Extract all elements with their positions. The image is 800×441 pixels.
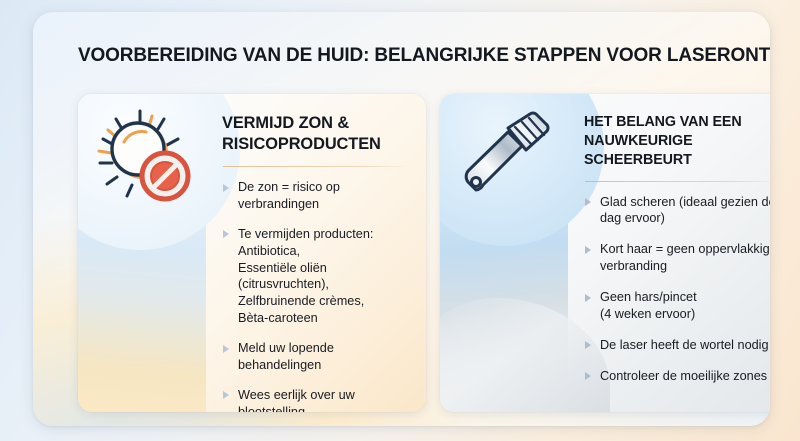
- list-item: Controleer de moeilijke zones: [584, 368, 770, 385]
- list-item: Te vermijden producten: Antibiotica, Ess…: [222, 226, 412, 327]
- icon-pane-left: [78, 94, 206, 412]
- list-item: Meld uw lopende behandelingen: [222, 340, 412, 374]
- sun-no-entry-icon: [94, 106, 194, 206]
- card-careful-shave: HET BELANG VAN EEN NAUWKEURIGE SCHEERBEU…: [440, 94, 770, 412]
- list-item: Wees eerlijk over uw blootstelling: [222, 387, 412, 412]
- card-avoid-sun: VERMIJD ZON & RISICOPRODUCTEN De zon = r…: [78, 94, 426, 412]
- content-panel: VOORBEREIDING VAN DE HUID: BELANGRIJKE S…: [33, 12, 770, 426]
- card-body-careful-shave: HET BELANG VAN EEN NAUWKEURIGE SCHEERBEU…: [568, 94, 770, 412]
- card-heading-avoid-sun: VERMIJD ZON & RISICOPRODUCTEN: [222, 113, 412, 155]
- bullet-list-careful-shave: Glad scheren (ideaal gezien de dag ervoo…: [584, 194, 770, 385]
- icon-pane-right: [440, 94, 568, 412]
- list-item: Glad scheren (ideaal gezien de dag ervoo…: [584, 194, 770, 228]
- list-item: De laser heeft de wortel nodig: [584, 337, 770, 354]
- list-item: Geen hars/pincet (4 weken ervoor): [584, 289, 770, 323]
- heading-divider-right: [585, 181, 770, 182]
- bullet-list-avoid-sun: De zon = risico op verbrandingen Te verm…: [222, 179, 412, 412]
- list-item: Kort haar = geen oppervlakkige verbrandi…: [584, 241, 770, 275]
- razor-icon: [456, 106, 556, 206]
- card-body-avoid-sun: VERMIJD ZON & RISICOPRODUCTEN De zon = r…: [206, 94, 426, 412]
- heading-divider-left: [223, 166, 408, 167]
- infographic-root: VOORBEREIDING VAN DE HUID: BELANGRIJKE S…: [0, 0, 800, 441]
- page-title: VOORBEREIDING VAN DE HUID: BELANGRIJKE S…: [78, 45, 770, 67]
- card-heading-careful-shave: HET BELANG VAN EEN NAUWKEURIGE SCHEERBEU…: [584, 113, 770, 170]
- list-item: De zon = risico op verbrandingen: [222, 179, 412, 213]
